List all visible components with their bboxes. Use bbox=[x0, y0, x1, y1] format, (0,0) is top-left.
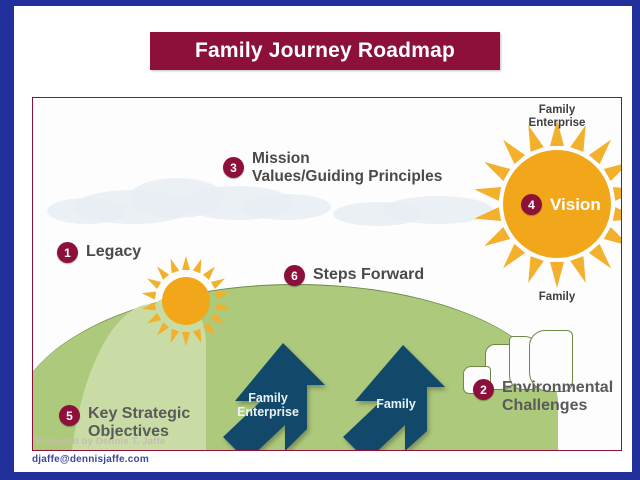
sun-ray bbox=[182, 332, 190, 346]
step-label-vision: 4 Vision bbox=[521, 194, 601, 215]
sun-ray bbox=[145, 313, 161, 327]
sun-ray bbox=[154, 264, 169, 280]
sun-ray bbox=[141, 302, 156, 312]
sun-ray bbox=[604, 156, 622, 181]
sun-ray bbox=[211, 275, 227, 289]
step-badge-4: 4 bbox=[521, 194, 542, 215]
step-badge-5: 5 bbox=[59, 405, 80, 426]
sun-ray bbox=[473, 207, 501, 225]
step-label-mission: 3 Mission Values/Guiding Principles bbox=[223, 150, 442, 186]
arrow-family-enterprise: Family Enterprise bbox=[221, 341, 331, 451]
sun-ray bbox=[498, 244, 525, 273]
sun-ray bbox=[550, 262, 564, 288]
sun-ray bbox=[216, 302, 231, 312]
cloud-shape bbox=[241, 194, 331, 220]
arrow-family: Family bbox=[341, 343, 451, 451]
sun-ray bbox=[203, 322, 218, 338]
step-badge-6: 6 bbox=[284, 265, 305, 286]
step-label-environmental: 2 Environmental Challenges bbox=[473, 379, 613, 416]
sun-ray bbox=[182, 256, 190, 270]
sun-ray bbox=[473, 183, 501, 201]
page-title: Family Journey Roadmap bbox=[195, 39, 455, 63]
sun-ray bbox=[216, 289, 231, 299]
sun-ray bbox=[613, 207, 622, 225]
sun-ray bbox=[589, 244, 616, 273]
sun-ray bbox=[522, 256, 544, 285]
sun-ray bbox=[193, 329, 205, 345]
sun-ray bbox=[193, 257, 205, 273]
footer-email: djaffe@dennisjaffe.com bbox=[32, 454, 149, 465]
sun-ray bbox=[481, 156, 511, 181]
step-text-environmental: Environmental Challenges bbox=[502, 379, 613, 416]
slide-canvas: Family Journey Roadmap 4 bbox=[14, 6, 632, 472]
diagram-frame: 4 Vision Family Enterprise Family 1 Lega… bbox=[32, 97, 622, 451]
footer-prepared-by: Prepared by Dennis T. Jaffe bbox=[36, 436, 165, 447]
small-sun-icon bbox=[141, 256, 231, 346]
step-label-steps-forward: 6 Steps Forward bbox=[284, 265, 424, 286]
sun-caption-top: Family Enterprise bbox=[497, 104, 617, 130]
arrow-label-family: Family bbox=[341, 397, 451, 411]
sun-ray bbox=[145, 275, 161, 289]
cloud-shape bbox=[47, 198, 127, 224]
step-label-legacy: 1 Legacy bbox=[57, 242, 141, 263]
vision-sun-icon: 4 Vision bbox=[473, 120, 622, 288]
sun-ray bbox=[154, 322, 169, 338]
sun-ray bbox=[167, 257, 179, 273]
sun-ray bbox=[589, 135, 616, 164]
step-text-vision: Vision bbox=[550, 195, 601, 215]
sun-ray bbox=[167, 329, 179, 345]
sun-ray bbox=[498, 135, 525, 164]
sun-ray bbox=[570, 256, 592, 285]
slide-title-bar: Family Journey Roadmap bbox=[150, 32, 500, 70]
sun-ray bbox=[203, 264, 218, 280]
sun-ray bbox=[141, 289, 156, 299]
step-text-legacy: Legacy bbox=[86, 243, 141, 261]
step-text-mission: Mission Values/Guiding Principles bbox=[252, 150, 442, 186]
step-badge-1: 1 bbox=[57, 242, 78, 263]
step-badge-2: 2 bbox=[473, 379, 494, 400]
sun-ray bbox=[211, 313, 227, 327]
sun-caption-bottom: Family bbox=[497, 291, 617, 304]
sun-ray bbox=[481, 227, 511, 252]
step-text-steps-forward: Steps Forward bbox=[313, 266, 424, 284]
small-sun-disc bbox=[162, 277, 210, 325]
sun-ray bbox=[613, 183, 622, 201]
arrow-label-family-enterprise: Family Enterprise bbox=[213, 391, 323, 419]
step-badge-3: 3 bbox=[223, 157, 244, 178]
sun-ray bbox=[604, 227, 622, 252]
